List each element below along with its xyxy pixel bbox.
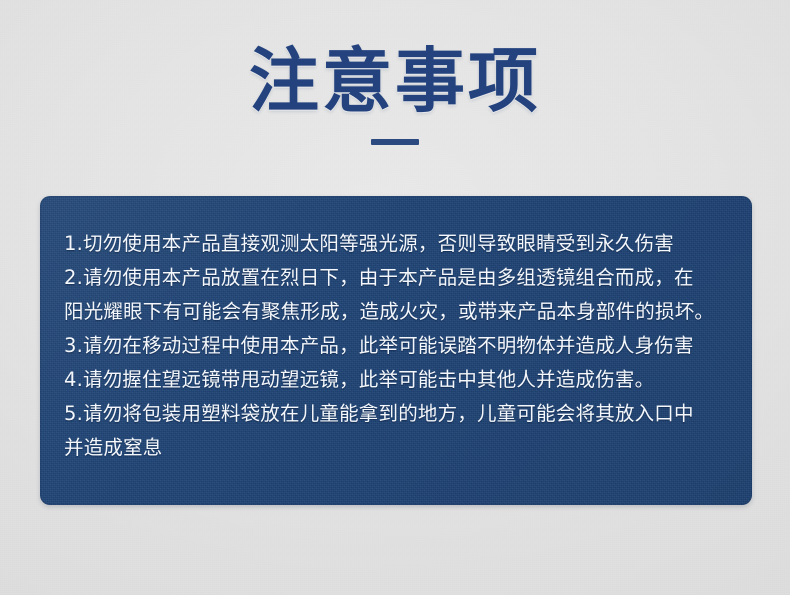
heading-block: 注意事项 <box>0 44 790 145</box>
list-item: 阳光耀眼下有可能会有聚焦形成，造成火灾，或带来产品本身部件的损坏。 <box>64 295 728 329</box>
notice-panel: 1.切勿使用本产品直接观测太阳等强光源，否则导致眼睛受到永久伤害 2.请勿使用本… <box>40 196 752 505</box>
notice-list: 1.切勿使用本产品直接观测太阳等强光源，否则导致眼睛受到永久伤害 2.请勿使用本… <box>40 196 752 465</box>
notice-poster: 注意事项 1.切勿使用本产品直接观测太阳等强光源，否则导致眼睛受到永久伤害 2.… <box>0 0 790 595</box>
page-title: 注意事项 <box>0 44 790 118</box>
list-item: 并造成窒息 <box>64 431 728 465</box>
list-item: 2.请勿使用本产品放置在烈日下，由于本产品是由多组透镜组合而成，在 <box>64 261 728 295</box>
list-item: 5.请勿将包装用塑料袋放在儿童能拿到的地方，儿童可能会将其放入口中 <box>64 397 728 431</box>
list-item: 1.切勿使用本产品直接观测太阳等强光源，否则导致眼睛受到永久伤害 <box>64 227 728 261</box>
list-item: 3.请勿在移动过程中使用本产品，此举可能误踏不明物体并造成人身伤害 <box>64 329 728 363</box>
title-divider-icon <box>371 139 419 145</box>
list-item: 4.请勿握住望远镜带甩动望远镜，此举可能击中其他人并造成伤害。 <box>64 363 728 397</box>
